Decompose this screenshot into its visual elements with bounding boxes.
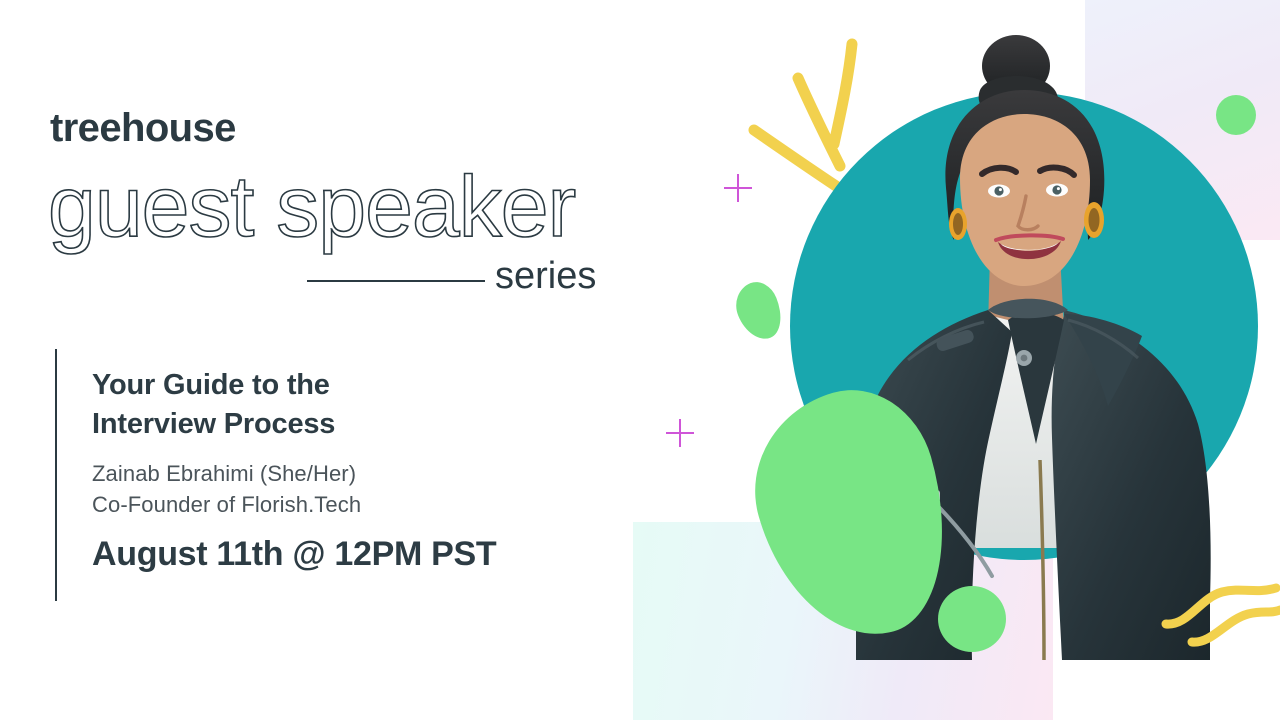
event-datetime: August 11th @ 12PM PST <box>92 536 632 573</box>
talk-title: Your Guide to the Interview Process <box>92 366 632 444</box>
plus-mark-upper-icon <box>724 174 752 202</box>
svg-text:guest speaker: guest speaker <box>48 160 576 255</box>
speaker-name: Zainab Ebrahimi (She/Her) <box>92 458 632 489</box>
accent-rule <box>55 349 57 601</box>
yellow-waves-icon <box>1160 570 1280 690</box>
promo-graphic: treehouse guest speaker series Your Guid… <box>0 0 1280 720</box>
speaker-role: Co-Founder of Florish.Tech <box>92 489 632 520</box>
series-divider <box>307 280 485 282</box>
speaker-details: Zainab Ebrahimi (She/Her) Co-Founder of … <box>92 458 632 520</box>
session-info: Your Guide to the Interview Process Zain… <box>92 366 632 574</box>
program-title-suffix: series <box>495 257 596 295</box>
plus-mark-lower-icon <box>666 419 694 447</box>
green-dot-bottom <box>938 586 1006 652</box>
program-title-outline: guest speaker <box>44 160 664 260</box>
brand-wordmark: treehouse <box>50 108 236 148</box>
green-blob-small <box>729 276 790 346</box>
